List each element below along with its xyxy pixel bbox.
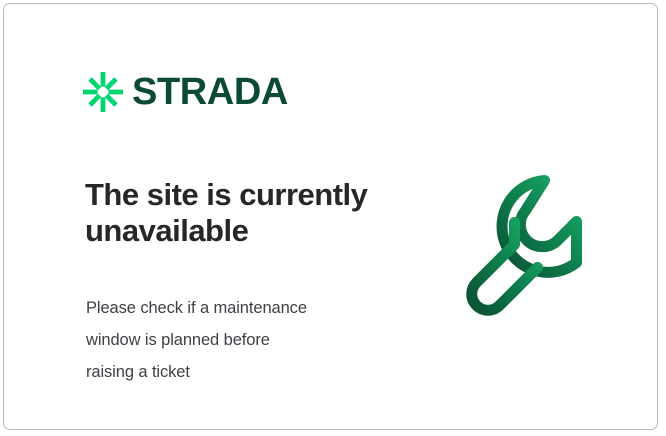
wrench-icon (456, 150, 616, 318)
description-line: window is planned before (86, 324, 386, 356)
strada-asterisk-icon (83, 72, 123, 112)
page-description: Please check if a maintenance window is … (86, 292, 386, 389)
status-card: STRADA The site is currently unavailable… (3, 3, 658, 430)
brand-wordmark: STRADA (132, 73, 288, 111)
brand-lockup: STRADA (83, 72, 288, 112)
description-line: raising a ticket (86, 356, 386, 388)
page-title: The site is currently unavailable (85, 177, 415, 250)
description-line: Please check if a maintenance (86, 292, 386, 324)
